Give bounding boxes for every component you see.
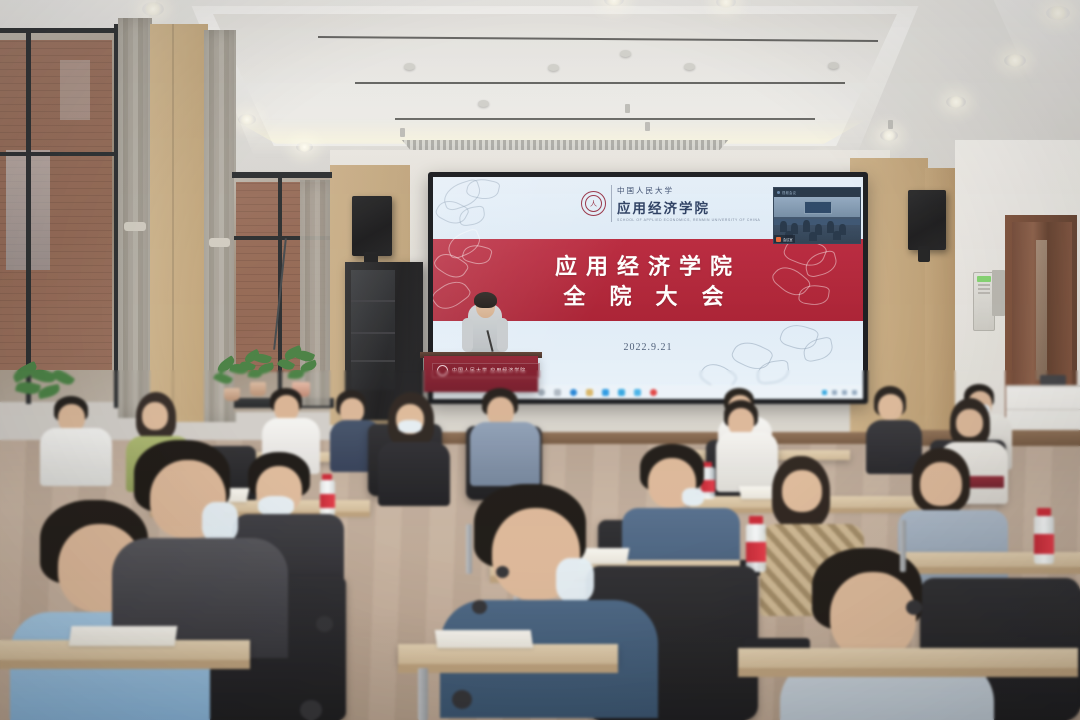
rack-shelf: [351, 360, 395, 362]
task-view-icon[interactable]: [554, 389, 561, 396]
chair-base-leg: [466, 524, 472, 574]
organization-name-english: SCHOOL OF APPLIED ECONOMICS, RENMIN UNIV…: [617, 218, 760, 222]
participant-avatar-icon: [776, 237, 781, 242]
file-explorer-icon[interactable]: [586, 389, 593, 396]
pier-seam: [172, 24, 174, 422]
control-panel-button[interactable]: [978, 284, 990, 286]
ceiling-speaker: [684, 63, 695, 70]
desk-edge: [738, 668, 1078, 677]
podium-name-plate: 中国人民大学 应用经济学院: [432, 363, 540, 378]
downlight: [880, 130, 898, 141]
door-glass-panel: [1036, 240, 1047, 380]
presenter-hair: [474, 292, 497, 308]
curtain-tieback: [124, 222, 146, 231]
presenter-arm-left: [462, 318, 473, 352]
chair-base-leg: [900, 520, 906, 572]
chair-caster: [472, 600, 487, 614]
control-panel-button[interactable]: [978, 292, 990, 294]
sprinkler-head: [888, 120, 893, 129]
chair-caster: [300, 700, 322, 720]
remote-room-attendees: [774, 215, 860, 237]
tray-icon[interactable]: [852, 390, 857, 395]
video-conference-window[interactable]: 视频会议 会议室: [773, 187, 861, 244]
taskbar-icon-group: [538, 389, 657, 396]
ceiling-seam: [355, 82, 845, 84]
record-icon[interactable]: [650, 389, 657, 396]
desk-edge: [0, 660, 250, 669]
window-frame-top: [0, 28, 120, 33]
participant-name: 会议室: [783, 237, 793, 242]
rack-glass-door: [351, 270, 395, 390]
organization-name-large: 应用经济学院: [617, 197, 760, 217]
equipment-on-cabinet: [1040, 375, 1066, 385]
seal-inner-glyph: 人: [585, 195, 602, 212]
logo-text-block: 中国人民大学 应用经济学院 SCHOOL OF APPLIED ECONOMIC…: [611, 185, 760, 222]
sprinkler-head: [645, 122, 650, 131]
university-seal-icon: 人: [581, 191, 606, 216]
window-mullion: [26, 30, 31, 404]
sprinkler-head: [400, 128, 405, 137]
podium-seal-icon: [437, 365, 448, 376]
ceiling-speaker: [548, 64, 559, 71]
building-window-reflection: [60, 60, 90, 120]
chair-caster: [906, 600, 922, 615]
control-panel-box: [992, 270, 1005, 316]
desk: [738, 648, 1078, 668]
ceiling-speaker: [478, 100, 489, 107]
wall-pier: [150, 24, 208, 422]
remote-room-screen: [804, 201, 832, 214]
university-logo-lockup: 人 中国人民大学 应用经济学院 SCHOOL OF APPLIED ECONOM…: [581, 185, 760, 222]
ceiling-speaker: [620, 50, 631, 57]
search-icon[interactable]: [538, 389, 545, 396]
downlight: [1046, 6, 1070, 20]
rack-shelf: [351, 332, 395, 334]
tray-icon[interactable]: [832, 390, 837, 395]
chair-caster: [316, 616, 333, 632]
speaker-mount-right: [918, 246, 930, 262]
desk-leg: [418, 668, 428, 720]
rack-shelf: [351, 300, 395, 302]
wechat-icon[interactable]: [618, 389, 625, 396]
window-transom: [0, 152, 120, 156]
edge-browser-icon[interactable]: [570, 389, 577, 396]
wall-speaker-left: [352, 196, 392, 256]
chair-caster: [452, 690, 472, 709]
desk-edge: [398, 664, 618, 673]
participant-name-badge: 会议室: [774, 235, 795, 243]
video-window-feed: 会议室: [774, 197, 860, 243]
taskbar-tray: [822, 390, 857, 395]
paper-handout[interactable]: [69, 626, 178, 646]
video-window-titlebar: 视频会议: [774, 188, 860, 197]
control-panel-display: [977, 276, 991, 282]
wall-speaker-right: [908, 190, 946, 250]
slide-title-line1: 应用经济学院: [433, 249, 863, 281]
window-dot-icon: [777, 191, 780, 194]
curtain-tieback: [209, 238, 230, 247]
ceiling-speaker: [404, 63, 415, 70]
paper-handout[interactable]: [435, 630, 534, 648]
curtain-left: [118, 18, 152, 418]
mail-icon[interactable]: [634, 389, 641, 396]
onedrive-icon[interactable]: [602, 389, 609, 396]
podium-plate-text: 中国人民大学 应用经济学院: [452, 367, 526, 374]
conference-room-photo: 人 中国人民大学 应用经济学院 SCHOOL OF APPLIED ECONOM…: [0, 0, 1080, 720]
downlight: [946, 96, 966, 108]
cabinet-drawer-line: [1006, 409, 1080, 410]
window-frame-top-near: [232, 172, 332, 178]
control-panel-button[interactable]: [978, 288, 990, 290]
chair-caster: [496, 566, 509, 578]
presenter-arm-right: [497, 318, 508, 352]
downlight: [1004, 54, 1026, 67]
tray-icon[interactable]: [822, 390, 827, 395]
organization-name-small: 中国人民大学: [617, 185, 760, 196]
tray-icon[interactable]: [842, 390, 847, 395]
ceiling-speaker: [828, 62, 839, 69]
sprinkler-head: [625, 104, 630, 113]
video-window-title: 视频会议: [782, 190, 796, 195]
